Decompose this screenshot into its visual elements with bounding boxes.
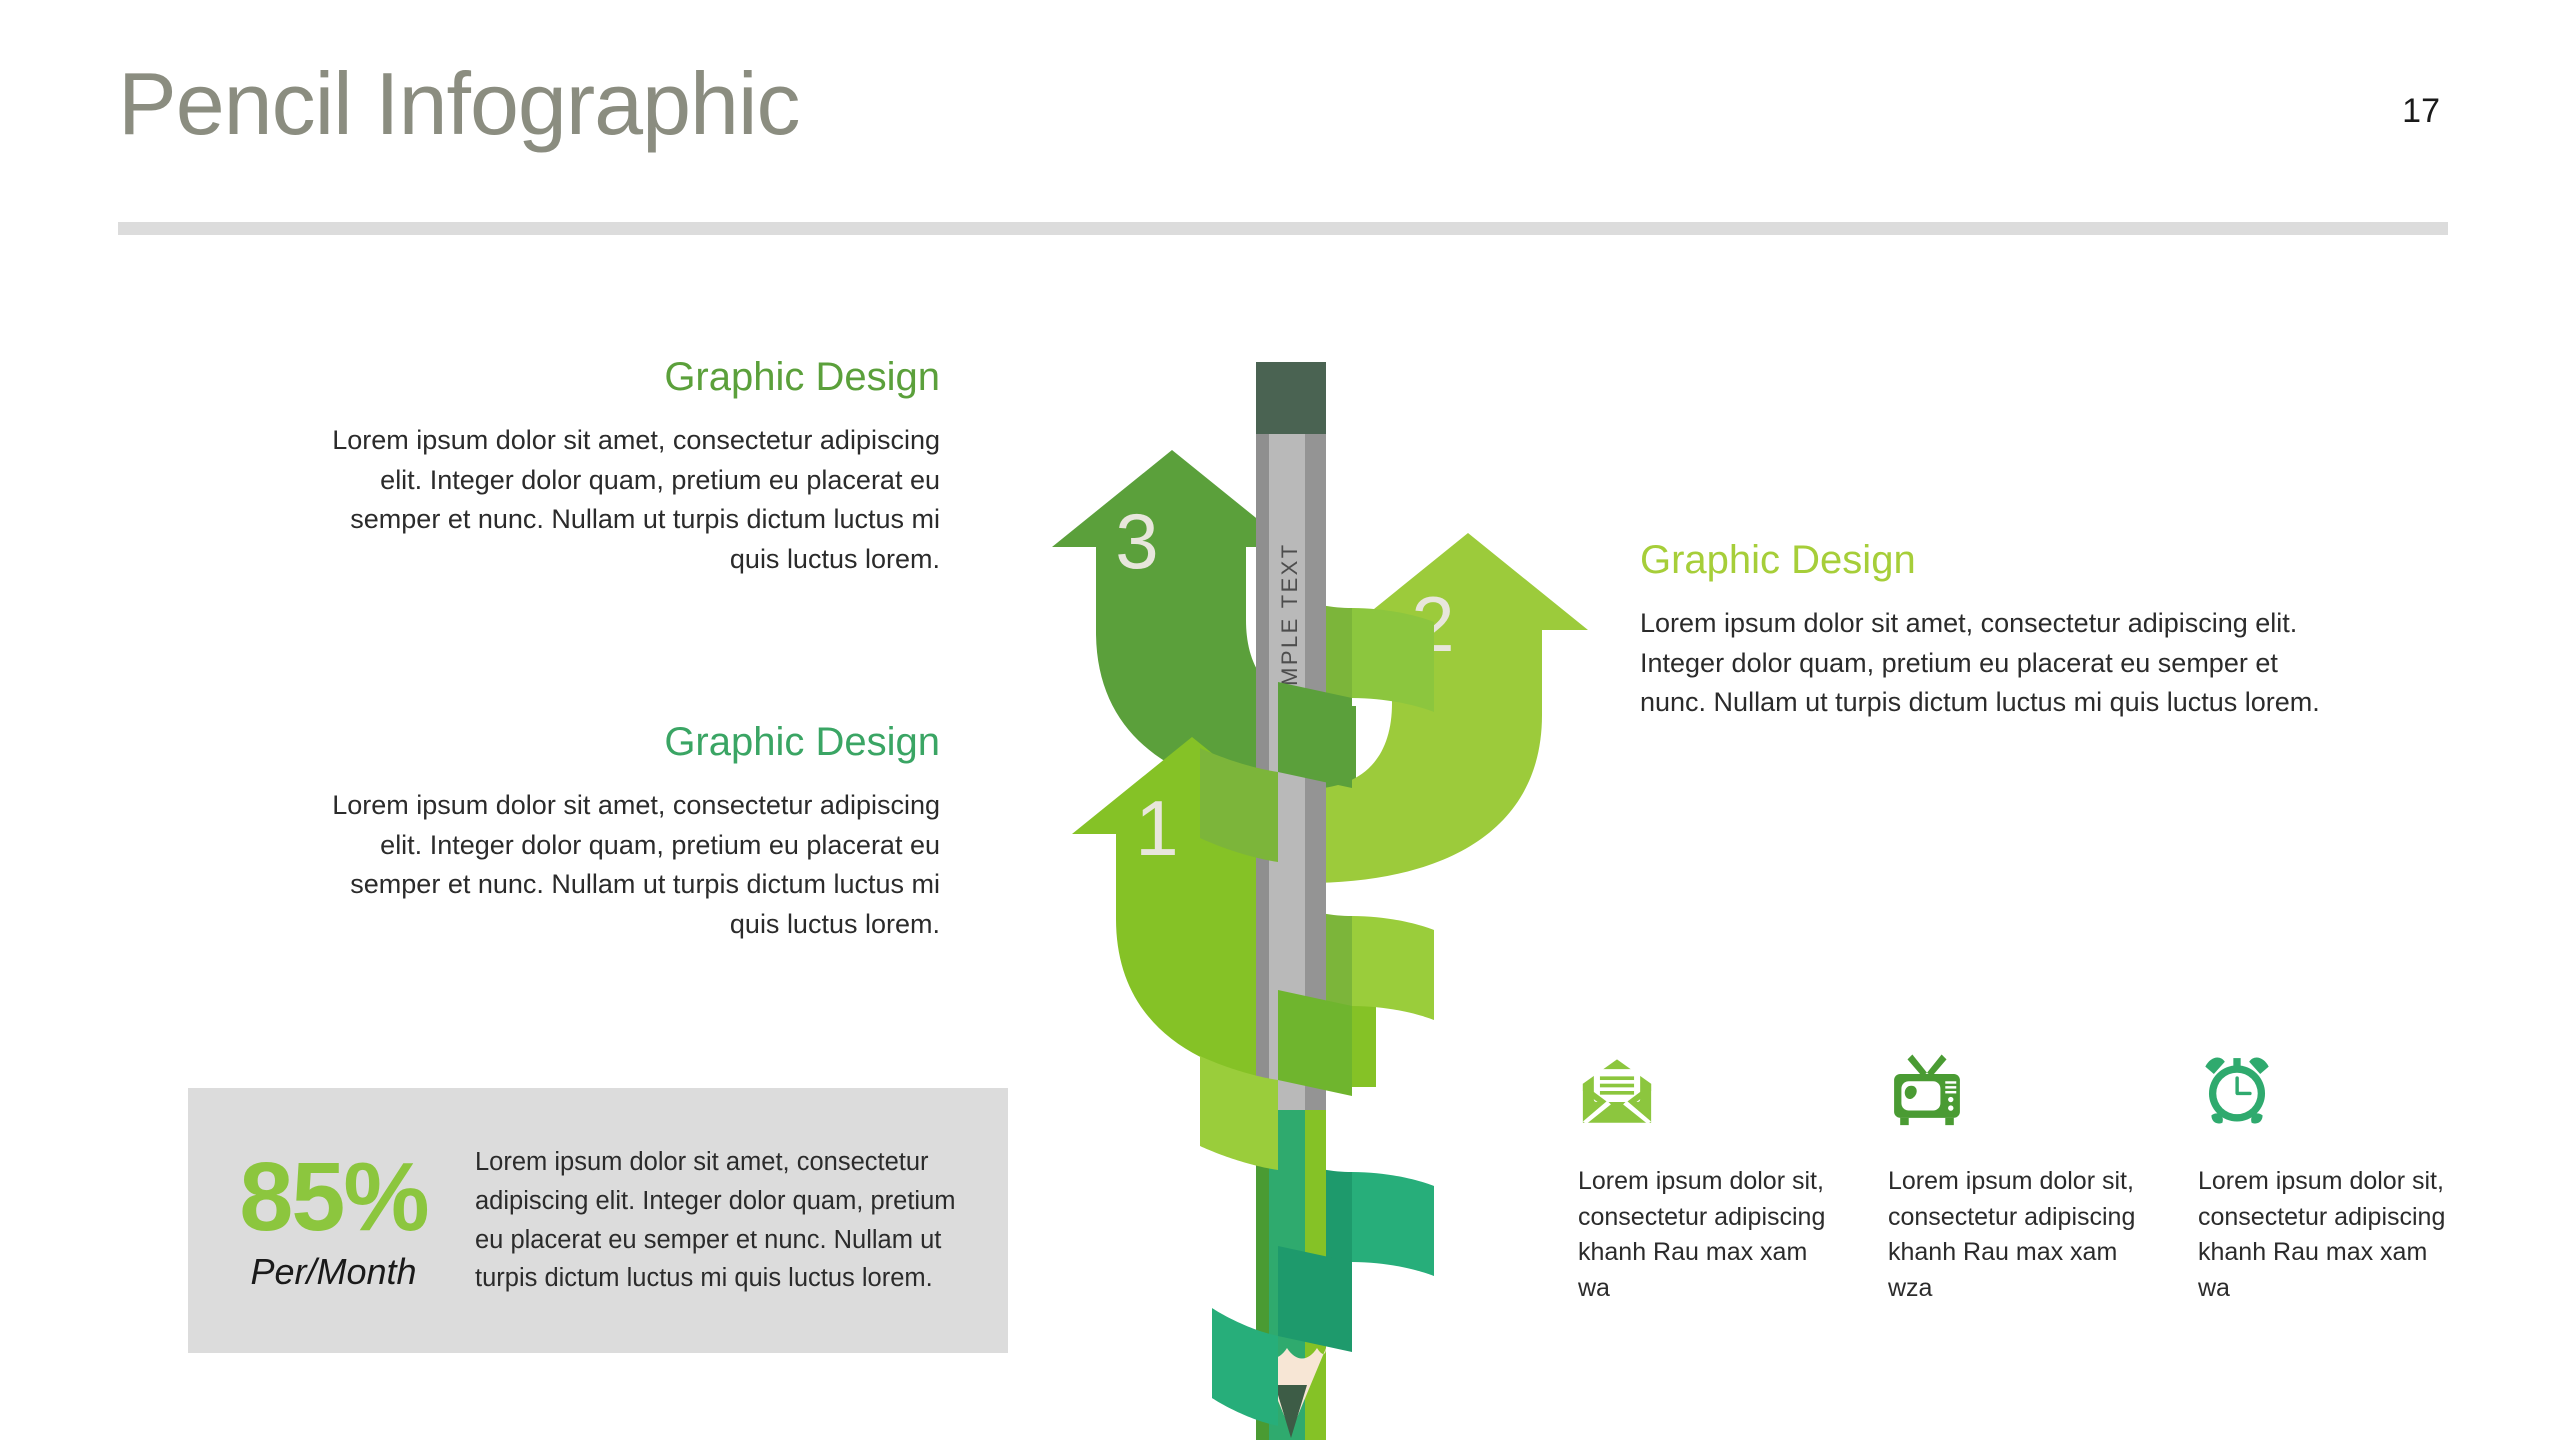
step-3-body: Lorem ipsum dolor sit amet, consectetur … <box>300 421 940 580</box>
statistic-box: 85% Per/Month Lorem ipsum dolor sit amet… <box>188 1088 1008 1353</box>
statistic-caption: Per/Month <box>206 1254 461 1290</box>
page-number: 17 <box>2402 92 2440 131</box>
icon-card-caption: Lorem ipsum dolor sit, consectetur adipi… <box>2198 1164 2448 1306</box>
alarm-clock-icon <box>2198 1052 2448 1130</box>
step-2-heading: Graphic Design <box>1640 538 2320 582</box>
step-2-body: Lorem ipsum dolor sit amet, consectetur … <box>1640 604 2320 723</box>
arrow-3-number: 3 <box>1115 497 1158 585</box>
page-title: Pencil Infographic <box>118 58 800 150</box>
pencil-eraser <box>1256 362 1326 434</box>
icon-card-caption: Lorem ipsum dolor sit, consectetur adipi… <box>1888 1164 2138 1306</box>
statistic-value: 85% <box>206 1151 461 1243</box>
television-icon <box>1888 1052 2138 1130</box>
icon-card-alarm-clock: Lorem ipsum dolor sit, consectetur adipi… <box>2198 1052 2448 1306</box>
slide-canvas: Pencil Infographic 17 Graphic Design Lor… <box>0 0 2560 1440</box>
step-1-body: Lorem ipsum dolor sit amet, consectetur … <box>300 786 940 945</box>
statistic-body: Lorem ipsum dolor sit amet, consectetur … <box>461 1143 982 1298</box>
step-3-text-block: Graphic Design Lorem ipsum dolor sit ame… <box>300 355 940 580</box>
title-divider <box>118 222 2448 235</box>
icon-card-television: Lorem ipsum dolor sit, consectetur adipi… <box>1888 1052 2138 1306</box>
step-1-text-block: Graphic Design Lorem ipsum dolor sit ame… <box>300 720 940 945</box>
step-2-text-block: Graphic Design Lorem ipsum dolor sit ame… <box>1640 538 2320 723</box>
step-1-heading: Graphic Design <box>300 720 940 764</box>
pencil-infographic-diagram: 3 1 2 <box>960 300 1680 1440</box>
step-3-heading: Graphic Design <box>300 355 940 399</box>
statistic-figure: 85% Per/Month <box>206 1151 461 1289</box>
arrow-1-number: 1 <box>1135 784 1178 872</box>
